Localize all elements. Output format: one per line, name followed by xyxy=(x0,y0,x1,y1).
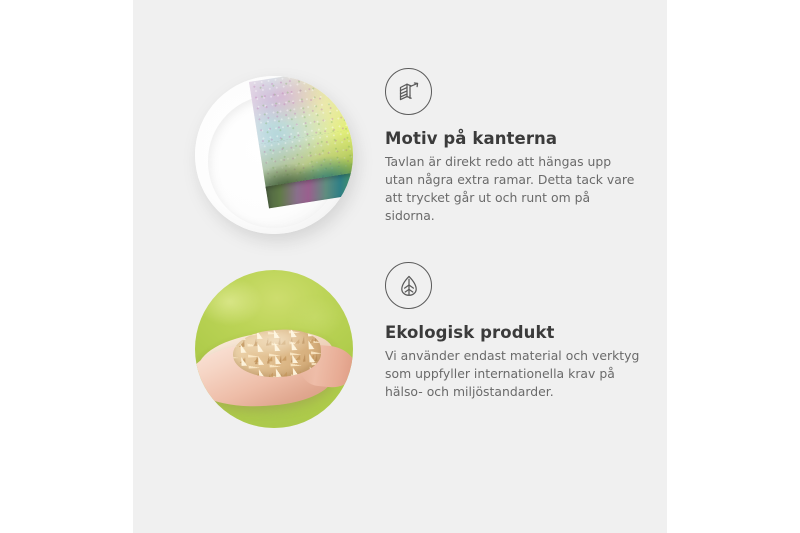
wood-chips xyxy=(232,328,323,380)
product-feature-banner: Motiv på kanterna Tavlan är direkt redo … xyxy=(0,0,800,533)
feature-block-edges: Motiv på kanterna Tavlan är direkt redo … xyxy=(133,68,667,258)
feature-title: Ekologisk produkt xyxy=(385,323,657,343)
canvas-wrap-icon xyxy=(385,68,432,115)
canvas-print-corner-photo xyxy=(195,76,353,234)
feature-title: Motiv på kanterna xyxy=(385,129,657,149)
feature-block-eco: Ekologisk produkt Vi använder endast mat… xyxy=(133,262,667,452)
feature-text-edges: Motiv på kanterna Tavlan är direkt redo … xyxy=(385,68,657,225)
feature-body: Vi använder endast material och verktyg … xyxy=(385,347,643,401)
canvas-front-face xyxy=(249,76,353,190)
feature-text-eco: Ekologisk produkt Vi använder endast mat… xyxy=(385,262,657,401)
feature-body: Tavlan är direkt redo att hängas upp uta… xyxy=(385,153,643,225)
hands-holding-wood-chips-photo xyxy=(195,270,353,428)
leaf-icon xyxy=(385,262,432,309)
